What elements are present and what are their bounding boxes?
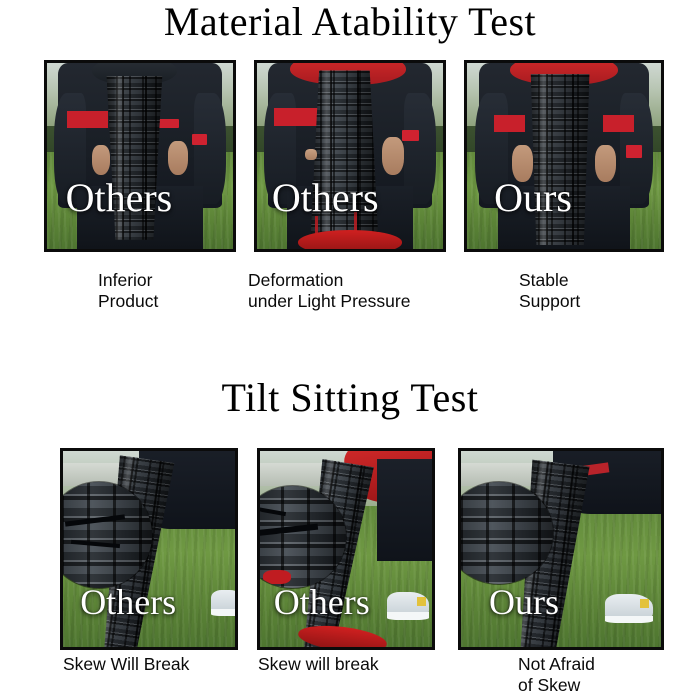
panel-tilt-others-break-red[interactable]: Others [257,448,435,650]
shoe-sole [387,612,428,619]
inset-product-surface [461,482,553,584]
overlay-label-others: Others [66,178,173,218]
inset-closeup-broken-structure [63,482,152,588]
hand-left [92,145,111,175]
caption-not-afraid-of-skew: Not Afraid of Skew [518,654,688,695]
shoe [605,594,653,623]
jacket-red-stripe [274,108,319,127]
inset-product-surface [63,482,152,588]
shoe-yellow-tab [640,599,650,608]
jacket-red-stripe-left [494,115,525,132]
sleeve-logo [626,145,642,158]
overlay-label-ours: Ours [489,584,559,620]
inset-ribs [63,482,152,588]
jacket-red-stripe-right [603,115,634,132]
sleeve-logo [192,134,207,145]
section-title-tilt-sitting: Tilt Sitting Test [0,374,700,421]
panel-material-others-inferior[interactable]: Others [44,60,236,252]
section-title-material-stability: Material Atability Test [0,0,700,45]
shoe [387,592,428,619]
photo-person-holding-our-product: Ours [467,63,661,249]
caption-deformation: Deformation under Light Pressure [248,270,498,311]
caption-skew-will-break-2: Skew will break [258,654,448,675]
overlay-label-others: Others [80,584,176,620]
inset-ribs [461,482,553,584]
panel-tilt-ours-ok[interactable]: Ours [458,448,664,650]
sleeve-logo [402,130,419,141]
overlay-label-others: Others [272,178,379,218]
photo-person-holding-inferior-product: Others [47,63,233,249]
photo-tilted-product-broken: Others [63,451,235,647]
caption-inferior-product: Inferior Product [98,270,248,311]
panel-material-others-deformation[interactable]: Others [254,60,446,252]
infographic-page: Material Atability Test [0,0,700,700]
jacket-red-stripe [67,111,108,128]
inset-closeup-broken-structure [260,486,346,588]
hand-right [595,145,616,182]
shoe-sole [211,609,235,616]
product-red-base-ring [298,230,402,249]
caption-stable-support: Stable Support [519,270,679,311]
overlay-label-others: Others [274,584,370,620]
overlay-label-ours: Ours [494,178,572,218]
photo-tilted-red-product-broken: Others [260,451,432,647]
shoe-yellow-tab [417,597,426,606]
hand-right [168,141,188,174]
finger-left [305,149,316,160]
caption-skew-will-break-1: Skew Will Break [63,654,253,675]
photo-person-squeezing-product: Others [257,63,443,249]
hand-right [382,137,404,174]
product-seam-right [572,74,574,245]
panel-tilt-others-break[interactable]: Others [60,448,238,650]
shoe-sole [605,616,653,624]
photo-tilted-our-product-intact: Ours [461,451,661,647]
shoe [211,590,235,615]
person-leg [377,459,432,561]
inset-closeup-intact-structure [461,482,553,584]
panel-material-ours-stable[interactable]: Ours [464,60,664,252]
